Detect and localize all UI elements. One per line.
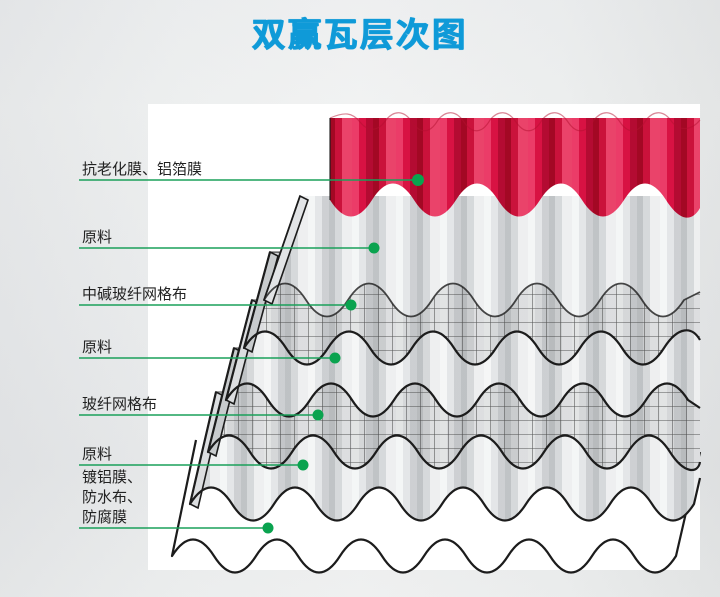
label-layer-2: 原料 bbox=[82, 228, 112, 247]
content-panel bbox=[148, 104, 700, 570]
page-title: 双赢瓦层次图 bbox=[252, 8, 468, 56]
label-layer-5: 玻纤网格布 bbox=[82, 395, 157, 414]
label-layer-4: 原料 bbox=[82, 338, 112, 357]
title-bar: 双赢瓦层次图 bbox=[0, 8, 720, 56]
page-root: 双赢瓦层次图 bbox=[0, 0, 720, 597]
label-layer-3: 中碱玻纤网格布 bbox=[82, 285, 187, 304]
label-layer-7: 镀铝膜、 防水布、 防腐膜 bbox=[82, 467, 142, 527]
label-layer-6: 原料 bbox=[82, 445, 112, 464]
label-layer-1: 抗老化膜、铝箔膜 bbox=[82, 160, 202, 179]
